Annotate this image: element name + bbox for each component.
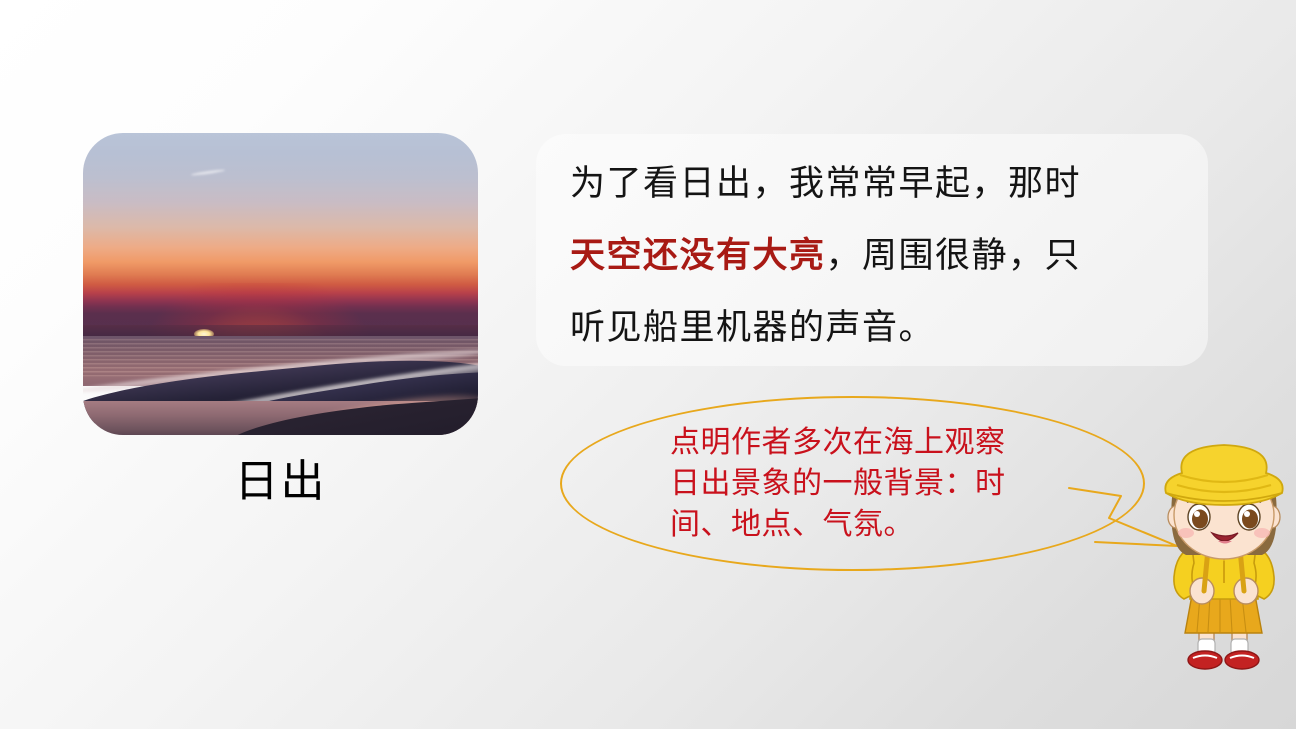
speech-bubble-text: 点明作者多次在海上观察 日出景象的一般背景：时 间、地点、气氛。 bbox=[670, 422, 1100, 545]
cartoon-girl-illustration bbox=[1152, 443, 1296, 685]
bubble-line-1: 点明作者多次在海上观察 bbox=[670, 422, 1100, 463]
quote-line-2: 天空还没有大亮，周围很静，只 bbox=[570, 220, 1184, 292]
quote-line-1-text: 为了看日出，我常常早起，那时 bbox=[570, 164, 1081, 204]
quote-line-3: 听见船里机器的声音。 bbox=[570, 292, 1184, 364]
quote-text-panel: 为了看日出，我常常早起，那时 天空还没有大亮，周围很静，只 听见船里机器的声音。 bbox=[536, 134, 1208, 366]
quote-line-3-text: 听见船里机器的声音。 bbox=[570, 308, 935, 348]
quote-line-1: 为了看日出，我常常早起，那时 bbox=[570, 148, 1184, 220]
sunrise-photo[interactable] bbox=[83, 133, 478, 435]
girl-shoes bbox=[1188, 651, 1259, 669]
annotation-speech-bubble: 点明作者多次在海上观察 日出景象的一般背景：时 间、地点、气氛。 bbox=[560, 396, 1145, 571]
quote-line-2-rest: ，周围很静，只 bbox=[826, 236, 1082, 276]
slide-canvas: 日出 为了看日出，我常常早起，那时 天空还没有大亮，周围很静，只 听见船里机器的… bbox=[0, 0, 1296, 729]
quote-paragraph: 为了看日出，我常常早起，那时 天空还没有大亮，周围很静，只 听见船里机器的声音。 bbox=[570, 148, 1184, 364]
quote-emphasis-text: 天空还没有大亮 bbox=[570, 235, 826, 276]
photo-caption-label: 日出 bbox=[83, 458, 478, 506]
girl-hat bbox=[1165, 445, 1282, 505]
bubble-line-3: 间、地点、气氛。 bbox=[670, 504, 1100, 545]
bubble-line-2: 日出景象的一般背景：时 bbox=[670, 463, 1100, 504]
